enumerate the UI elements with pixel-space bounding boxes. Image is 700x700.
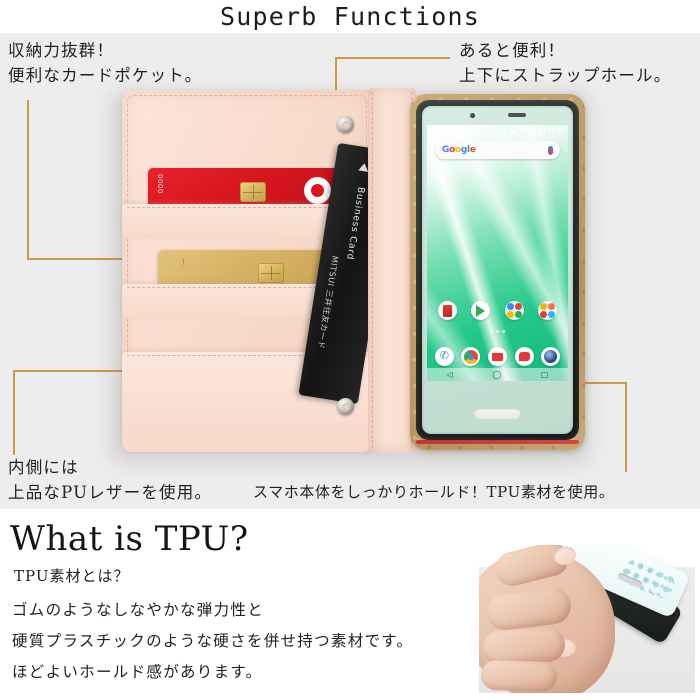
product-feature-page: Superb Functions 収納力抜群！ 便利なカードポケット。 あると便…: [0, 0, 700, 700]
card-chip-icon: [258, 263, 284, 283]
status-bar: 100% 12:34: [427, 125, 568, 136]
app-row-folders: [431, 301, 564, 320]
page-title: Superb Functions: [0, 2, 700, 31]
chrome-icon: [461, 347, 480, 366]
tpu-inner-frame: 100% 12:34 Google: [416, 100, 579, 440]
app-icon-support[interactable]: [438, 301, 457, 320]
caption-pu-leather-line2: 上品なPUレザーを使用。: [8, 480, 212, 505]
card-chip-icon: [240, 182, 266, 202]
microphone-icon[interactable]: [548, 146, 553, 155]
navigation-bar: ◁ ◯ ▢: [427, 368, 568, 381]
tpu-flex-demo-photo: [479, 545, 695, 693]
app-icon-mail[interactable]: [488, 347, 507, 366]
case-accent-stripe: [416, 440, 579, 444]
card-brand-mark-icon: [304, 177, 331, 204]
nav-back-icon[interactable]: ◁: [447, 370, 453, 379]
caption-card-pocket-line1: 収納力抜群！: [8, 38, 202, 63]
business-card-label: Business Card: [344, 186, 365, 261]
credit-card-red-digits: 0000: [156, 174, 164, 194]
recommended-folder-icon: [538, 301, 557, 320]
app-folder-google[interactable]: [505, 301, 524, 320]
battery-icon: [539, 126, 545, 135]
google-logo: Google: [442, 145, 476, 155]
app-icon-camera[interactable]: [541, 347, 560, 366]
caption-strap-hole-line1: あると便利！: [459, 38, 671, 63]
tpu-heading: What is TPU?: [10, 519, 249, 559]
wallet-case-photo: 0000 — Business Card MITSUI 三井住友カード: [100, 80, 600, 470]
app-icon-chrome[interactable]: [461, 347, 480, 366]
phone-icon: ✆: [435, 347, 454, 366]
tpu-body-line3: ほどよいホールド感があります。: [12, 657, 413, 688]
finger-pinky: [480, 660, 557, 693]
phone-screen: 100% 12:34 Google: [427, 125, 568, 381]
smartphone: 100% 12:34 Google: [422, 106, 573, 434]
leader-line-strap-horizontal: [335, 57, 450, 59]
clock-label: 12:34: [547, 127, 565, 134]
tpu-subheading: TPU素材とは？: [14, 565, 129, 586]
tpu-body-line1: ゴムのようなしなやかな弾力性と: [12, 595, 413, 626]
home-button[interactable]: [474, 409, 521, 420]
app-icon-phone[interactable]: ✆: [435, 347, 454, 366]
app-icon-play-store[interactable]: [471, 301, 490, 320]
support-icon: [438, 301, 457, 320]
tpu-explainer-section: What is TPU? TPU素材とは？ ゴムのようなしなやかな弾力性と 硬質…: [0, 509, 700, 700]
tpu-body-line2: 硬質プラスチックのような硬さを併せ持つ素材です。: [12, 626, 413, 657]
earpiece-icon: [508, 113, 526, 117]
leader-line-leather-vertical: [13, 370, 15, 455]
case-spine: [368, 88, 416, 452]
nav-recents-icon[interactable]: ▢: [541, 370, 549, 379]
home-page-indicator: [427, 330, 568, 333]
signal-icon: [511, 128, 517, 134]
tpu-body-text: ゴムのようなしなやかな弾力性と 硬質プラスチックのような硬さを併せ持つ素材です。…: [12, 595, 413, 688]
camera-icon: [541, 347, 560, 366]
google-folder-icon: [505, 301, 524, 320]
battery-percent-label: 100%: [519, 127, 537, 134]
nav-home-icon[interactable]: ◯: [492, 370, 501, 379]
strap-hole-eyelet-bottom-icon: [337, 398, 354, 415]
caption-tpu-hold-text: スマホ本体をしっかりホールド！TPU素材を使用。: [253, 480, 614, 505]
front-camera-icon: [470, 113, 475, 118]
tpu-shell: 100% 12:34 Google: [410, 94, 585, 450]
app-folder-recommended[interactable]: [538, 301, 557, 320]
strap-hole-eyelet-top-icon: [337, 116, 354, 133]
play-store-icon: [471, 301, 490, 320]
message-icon: [515, 347, 534, 366]
leader-line-tpu-vertical: [625, 382, 627, 472]
business-card-brand: MITSUI 三井住友カード: [315, 255, 341, 350]
caption-tpu-hold: スマホ本体をしっかりホールド！TPU素材を使用。: [253, 480, 614, 505]
google-search-bar[interactable]: Google: [435, 141, 560, 159]
features-section: Superb Functions 収納力抜群！ 便利なカードポケット。 あると便…: [0, 0, 700, 509]
mail-icon: [488, 347, 507, 366]
leader-line-card-pocket-vertical: [27, 100, 29, 260]
app-icon-message[interactable]: [515, 347, 534, 366]
app-row-dock: ✆: [431, 347, 564, 366]
